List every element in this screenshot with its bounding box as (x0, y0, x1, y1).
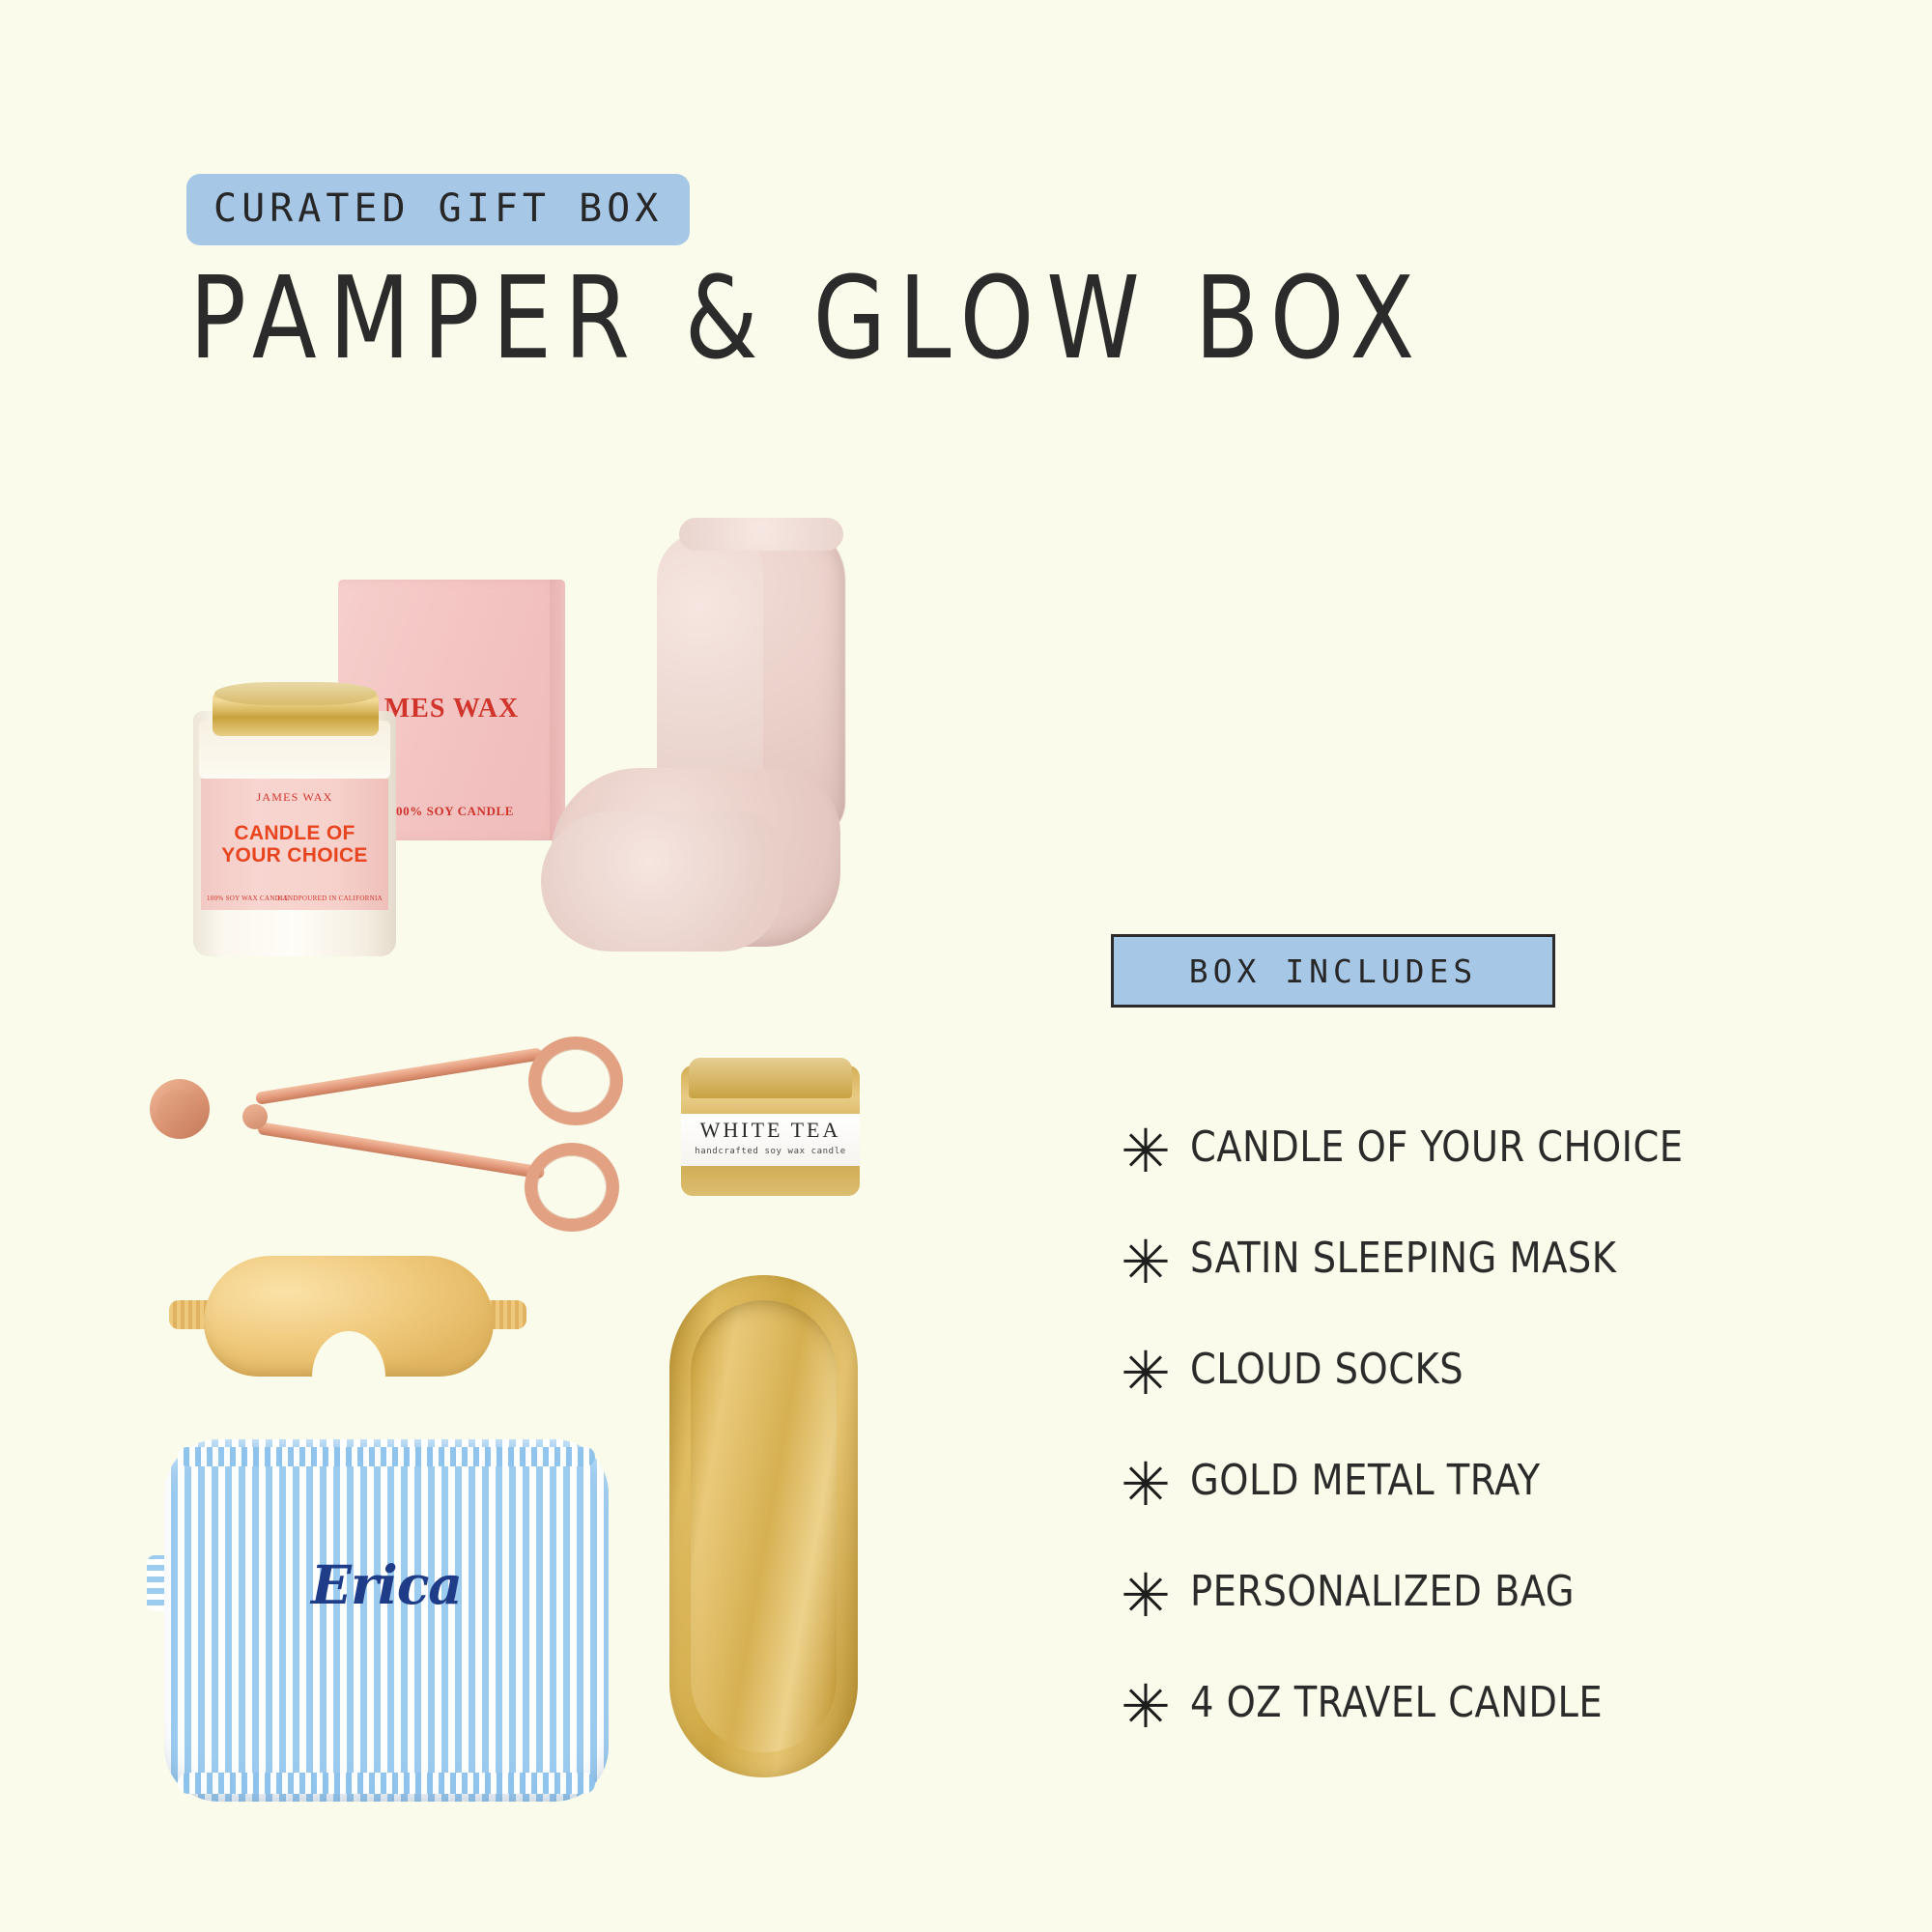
page-title: PAMPER & GLOW BOX (189, 261, 1427, 375)
list-item-label: GOLD METAL TRAY (1190, 1456, 1541, 1505)
jar-label: JAMES WAX CANDLE OF YOUR CHOICE 100% SOY… (201, 779, 388, 910)
jar-label-brand: JAMES WAX (201, 790, 388, 805)
list-item-label: CLOUD SOCKS (1190, 1345, 1463, 1394)
tin-descriptor: handcrafted soy wax candle (681, 1147, 860, 1156)
asterisk-icon: ✳ (1101, 1566, 1190, 1626)
asterisk-icon: ✳ (1101, 1122, 1190, 1181)
asterisk-icon: ✳ (1101, 1677, 1190, 1737)
bag-pouch: Erica (164, 1439, 609, 1802)
gift-box-poster: CURATED GIFT BOX PAMPER & GLOW BOX MES W… (0, 0, 1932, 1932)
asterisk-icon: ✳ (1101, 1344, 1190, 1404)
sock-cuff (679, 518, 843, 551)
list-item-label: 4 OZ TRAVEL CANDLE (1190, 1678, 1603, 1727)
product-travel-candle-tin: WHITE TEA handcrafted soy wax candle (681, 1058, 860, 1203)
tin-lid (689, 1058, 852, 1098)
list-item: ✳ CLOUD SOCKS (1101, 1314, 1874, 1425)
sock-foot-front (541, 811, 782, 952)
jar-label-main-line1: CANDLE OF (234, 822, 355, 844)
jar-lid-top (214, 682, 377, 705)
trimmer-scoop-inner (157, 1090, 200, 1130)
list-item-label: PERSONALIZED BAG (1190, 1567, 1575, 1616)
product-candle-jar: JAMES WAX CANDLE OF YOUR CHOICE 100% SOY… (193, 676, 396, 956)
list-item: ✳ GOLD METAL TRAY (1101, 1425, 1874, 1536)
jar-label-main-line2: YOUR CHOICE (221, 844, 367, 867)
product-wick-trimmer (150, 1029, 604, 1232)
list-item-label: SATIN SLEEPING MASK (1190, 1234, 1616, 1283)
product-satin-sleep-mask (169, 1256, 526, 1386)
product-personalized-bag: Erica (164, 1439, 609, 1802)
trimmer-pivot-screw (242, 1104, 268, 1129)
box-includes-heading: BOX INCLUDES (1111, 934, 1555, 1008)
trimmer-arm-lower (257, 1122, 545, 1179)
list-item-label: CANDLE OF YOUR CHOICE (1190, 1122, 1684, 1172)
list-item: ✳ SATIN SLEEPING MASK (1101, 1203, 1874, 1314)
trimmer-ring-lower (525, 1143, 619, 1232)
list-item: ✳ CANDLE OF YOUR CHOICE (1101, 1092, 1874, 1203)
trimmer-ring-upper (528, 1037, 623, 1125)
product-gold-metal-tray (669, 1275, 858, 1777)
box-includes-list: ✳ CANDLE OF YOUR CHOICE ✳ SATIN SLEEPING… (1101, 1092, 1874, 1758)
asterisk-icon: ✳ (1101, 1455, 1190, 1515)
bag-embroidered-name: Erica (164, 1553, 609, 1616)
jar-label-main: CANDLE OF YOUR CHOICE (201, 823, 388, 867)
jar-label-footer-right: HANDPOURED IN CALIFORNIA (277, 895, 383, 902)
tray-inner-well (691, 1300, 837, 1752)
asterisk-icon: ✳ (1101, 1233, 1190, 1293)
curated-gift-box-badge: CURATED GIFT BOX (186, 174, 690, 245)
trimmer-arm-upper (255, 1047, 543, 1105)
bag-bottom-trim (178, 1773, 595, 1794)
tin-scent-name: WHITE TEA (681, 1118, 860, 1143)
list-item: ✳ 4 OZ TRAVEL CANDLE (1101, 1647, 1874, 1758)
product-cloud-socks (541, 522, 869, 1063)
list-item: ✳ PERSONALIZED BAG (1101, 1536, 1874, 1647)
bag-top-trim (178, 1447, 595, 1466)
